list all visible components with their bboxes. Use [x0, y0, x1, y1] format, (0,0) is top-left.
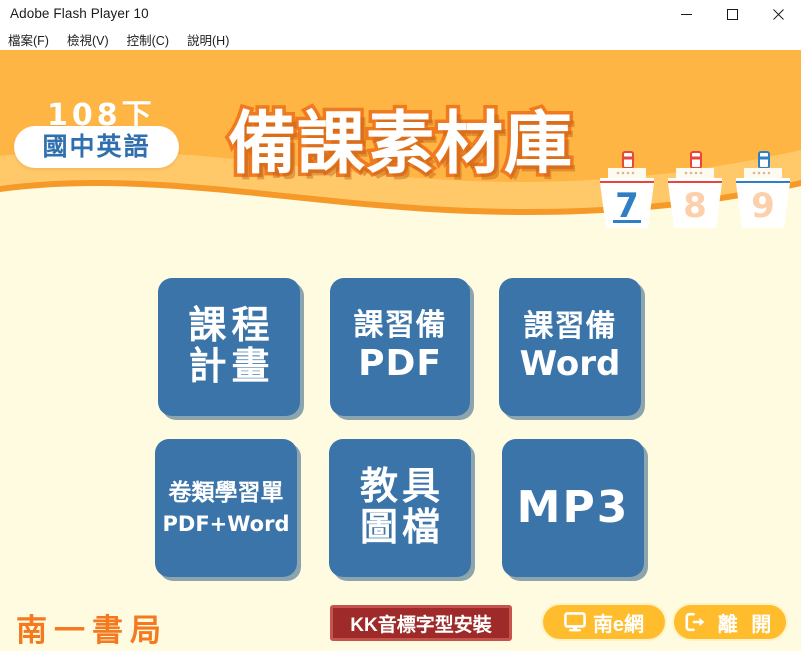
monitor-icon — [564, 612, 586, 632]
button-course-plan[interactable]: 課程 計畫 — [158, 278, 300, 416]
flash-stage: 108下 國中英語 備課素材庫 7 — [0, 50, 801, 651]
minimize-button[interactable] — [663, 0, 709, 29]
button-teaching-aids[interactable]: 教具 圖檔 — [329, 439, 471, 577]
grade-selector: 7 8 — [596, 150, 796, 230]
window-controls — [663, 0, 801, 29]
button-teaching-aids-line2: 圖檔 — [356, 508, 444, 549]
nani-web-button[interactable]: 南e網 — [541, 603, 667, 641]
exit-button[interactable]: 離 開 — [672, 603, 788, 641]
publisher-logo: 南一書局 — [16, 605, 168, 650]
exit-icon — [685, 612, 707, 632]
menu-item-view[interactable]: 檢視(V) — [67, 30, 109, 49]
button-course-plan-line1: 課程 — [183, 306, 274, 347]
grade-boat-8[interactable]: 8 — [664, 150, 726, 228]
subject-badge: 國中英語 — [14, 126, 179, 168]
button-worksheets-line1: 卷類學習單 — [169, 480, 284, 505]
maximize-button[interactable] — [709, 0, 755, 29]
button-lesson-prep-word[interactable]: 課習備 Word — [499, 278, 641, 416]
header-banner: 108下 國中英語 備課素材庫 7 — [0, 50, 801, 235]
menu-bar: 檔案(F) 檢視(V) 控制(C) 說明(H) — [0, 29, 801, 50]
button-mp3-label: MP3 — [517, 484, 630, 532]
button-course-plan-line2: 計畫 — [183, 347, 274, 388]
button-mp3[interactable]: MP3 — [502, 439, 644, 577]
button-lesson-prep-pdf-line2: PDF — [358, 345, 442, 384]
button-lesson-prep-word-line1: 課習備 — [524, 311, 617, 343]
button-worksheets-line2: PDF+Word — [163, 513, 290, 536]
grade-boat-8-label: 8 — [683, 186, 707, 226]
menu-item-help[interactable]: 說明(H) — [187, 30, 229, 49]
page-title: 備課素材庫 — [228, 110, 573, 178]
button-teaching-aids-line1: 教具 — [356, 467, 444, 508]
subject-label: 國中英語 — [42, 135, 150, 160]
button-worksheets[interactable]: 卷類學習單 PDF+Word — [155, 439, 297, 577]
menu-item-control[interactable]: 控制(C) — [127, 30, 169, 49]
title-bar: Adobe Flash Player 10 — [0, 0, 801, 29]
button-lesson-prep-pdf-line1: 課習備 — [354, 310, 447, 342]
menu-item-file[interactable]: 檔案(F) — [8, 30, 49, 49]
button-lesson-prep-pdf[interactable]: 課習備 PDF — [330, 278, 470, 416]
kk-font-install-button[interactable]: KK音標字型安裝 — [330, 605, 512, 641]
grade-boat-9[interactable]: 9 — [732, 150, 794, 228]
close-button[interactable] — [755, 0, 801, 29]
grade-boat-7[interactable]: 7 — [596, 150, 658, 228]
exit-label: 離 開 — [714, 608, 776, 637]
nani-web-label: 南e網 — [593, 608, 644, 637]
kk-font-install-label: KK音標字型安裝 — [350, 610, 491, 637]
grade-boat-9-label: 9 — [751, 186, 775, 226]
application-window: Adobe Flash Player 10 檔案(F) 檢視(V) 控制(C) … — [0, 0, 801, 651]
button-lesson-prep-word-line2: Word — [520, 346, 621, 383]
window-title: Adobe Flash Player 10 — [10, 6, 149, 21]
